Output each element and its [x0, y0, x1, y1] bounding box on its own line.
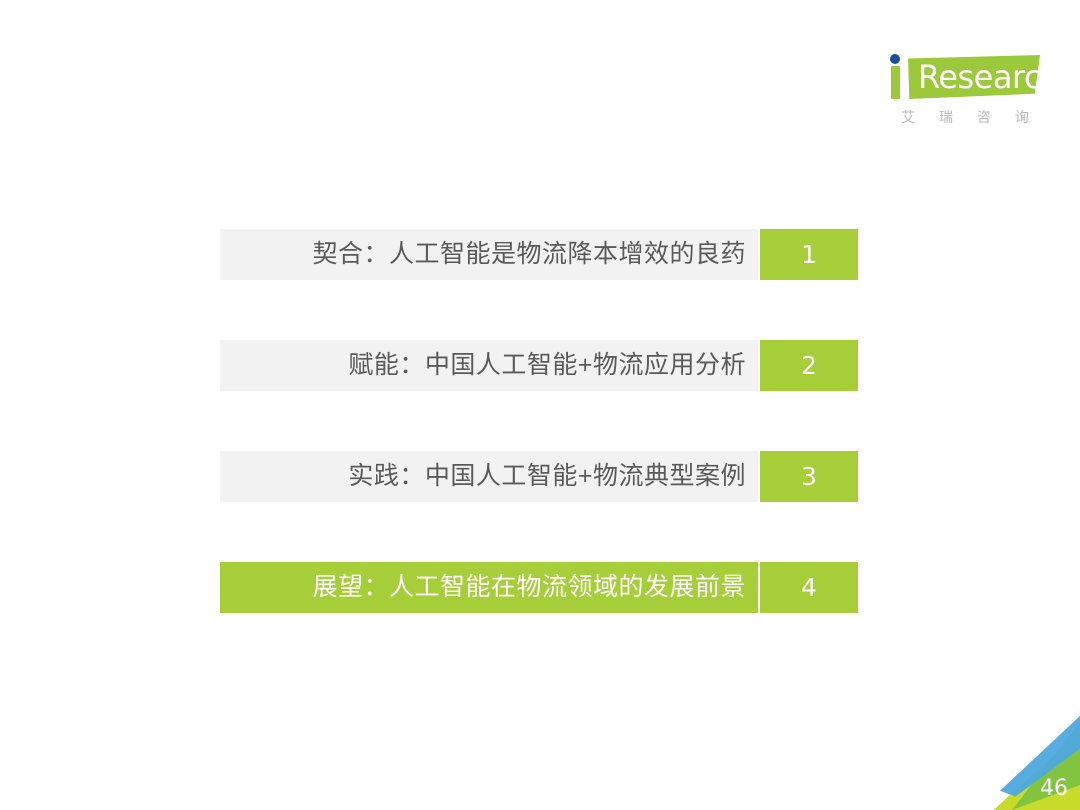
agenda-row-label: 契合：人工智能是物流降本增效的良药	[220, 229, 758, 280]
logo-subtitle: 艾 瑞 咨 询	[890, 108, 1040, 126]
logo-letter-i-dot-icon	[890, 54, 900, 64]
agenda-row[interactable]: 赋能：中国人工智能+物流应用分析 2	[220, 340, 858, 391]
logo-mark: Research	[884, 52, 1044, 104]
agenda-row-number: 4	[760, 562, 858, 613]
slide-canvas: Research 艾 瑞 咨 询 契合：人工智能是物流降本增效的良药 1 赋能：…	[0, 0, 1080, 810]
agenda-row-label: 实践：中国人工智能+物流典型案例	[220, 451, 758, 502]
agenda-row[interactable]: 实践：中国人工智能+物流典型案例 3	[220, 451, 858, 502]
agenda-row-active[interactable]: 展望：人工智能在物流领域的发展前景 4	[220, 562, 858, 613]
page-number: 46	[1040, 776, 1068, 802]
iresearch-logo: Research 艾 瑞 咨 询	[884, 52, 1044, 134]
agenda-list: 契合：人工智能是物流降本增效的良药 1 赋能：中国人工智能+物流应用分析 2 实…	[220, 229, 858, 613]
agenda-row[interactable]: 契合：人工智能是物流降本增效的良药 1	[220, 229, 858, 280]
agenda-row-number: 1	[760, 229, 858, 280]
agenda-row-label: 赋能：中国人工智能+物流应用分析	[220, 340, 758, 391]
logo-wordmark: Research	[918, 58, 1061, 96]
agenda-row-number: 3	[760, 451, 858, 502]
agenda-row-number: 2	[760, 340, 858, 391]
logo-letter-i-stem	[891, 66, 900, 99]
agenda-row-label: 展望：人工智能在物流领域的发展前景	[220, 562, 758, 613]
